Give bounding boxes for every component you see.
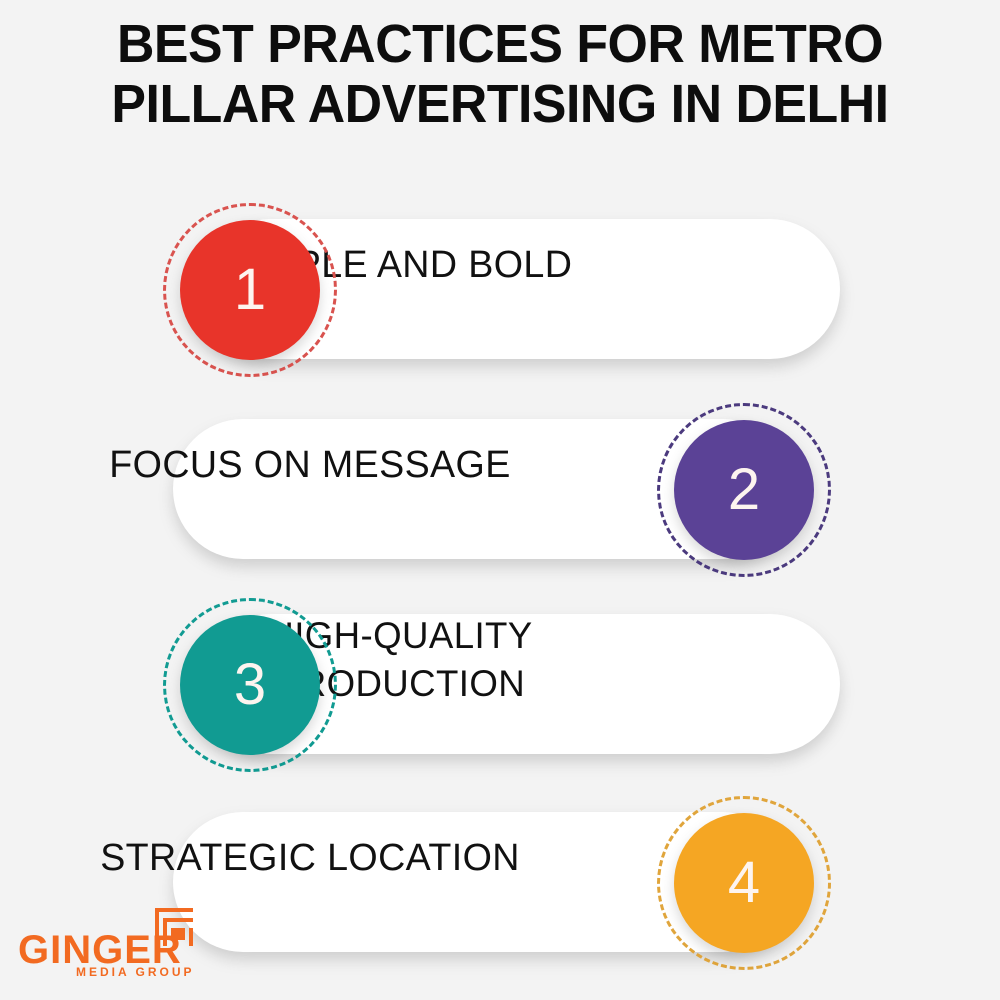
list-item[interactable]: HIGH-QUALITY PRODUCTION 3 bbox=[0, 590, 1000, 780]
page-title: BEST PRACTICES FOR METRO PILLAR ADVERTIS… bbox=[0, 14, 1000, 134]
step-2-number-circle: 2 bbox=[674, 420, 814, 560]
step-1-number: 1 bbox=[234, 261, 266, 319]
nested-corner-squares-icon bbox=[151, 902, 197, 948]
step-2-label: FOCUS ON MESSAGE bbox=[33, 395, 587, 535]
steps-list: SIMPLE AND BOLD 1 FOCUS ON MESSAGE 2 HIG… bbox=[0, 190, 1000, 960]
step-3-badge[interactable]: 3 bbox=[158, 590, 342, 780]
step-4-number-circle: 4 bbox=[674, 813, 814, 953]
step-1-number-circle: 1 bbox=[180, 220, 320, 360]
brand-logo-subtitle: MEDIA GROUP bbox=[76, 966, 195, 978]
step-1-badge[interactable]: 1 bbox=[158, 195, 342, 385]
brand-logo[interactable]: GINGER MEDIA GROUP bbox=[18, 902, 228, 980]
step-4-badge[interactable]: 4 bbox=[652, 788, 836, 978]
step-3-number-circle: 3 bbox=[180, 615, 320, 755]
step-3-number: 3 bbox=[234, 656, 266, 714]
page-title-line-2: PILLAR ADVERTISING IN DELHI bbox=[33, 74, 966, 134]
step-4-number: 4 bbox=[728, 854, 760, 912]
step-2-badge[interactable]: 2 bbox=[652, 395, 836, 585]
step-2-number: 2 bbox=[728, 461, 760, 519]
page-title-line-1: BEST PRACTICES FOR METRO bbox=[33, 14, 966, 74]
list-item[interactable]: FOCUS ON MESSAGE 2 bbox=[0, 395, 1000, 585]
list-item[interactable]: SIMPLE AND BOLD 1 bbox=[0, 195, 1000, 385]
